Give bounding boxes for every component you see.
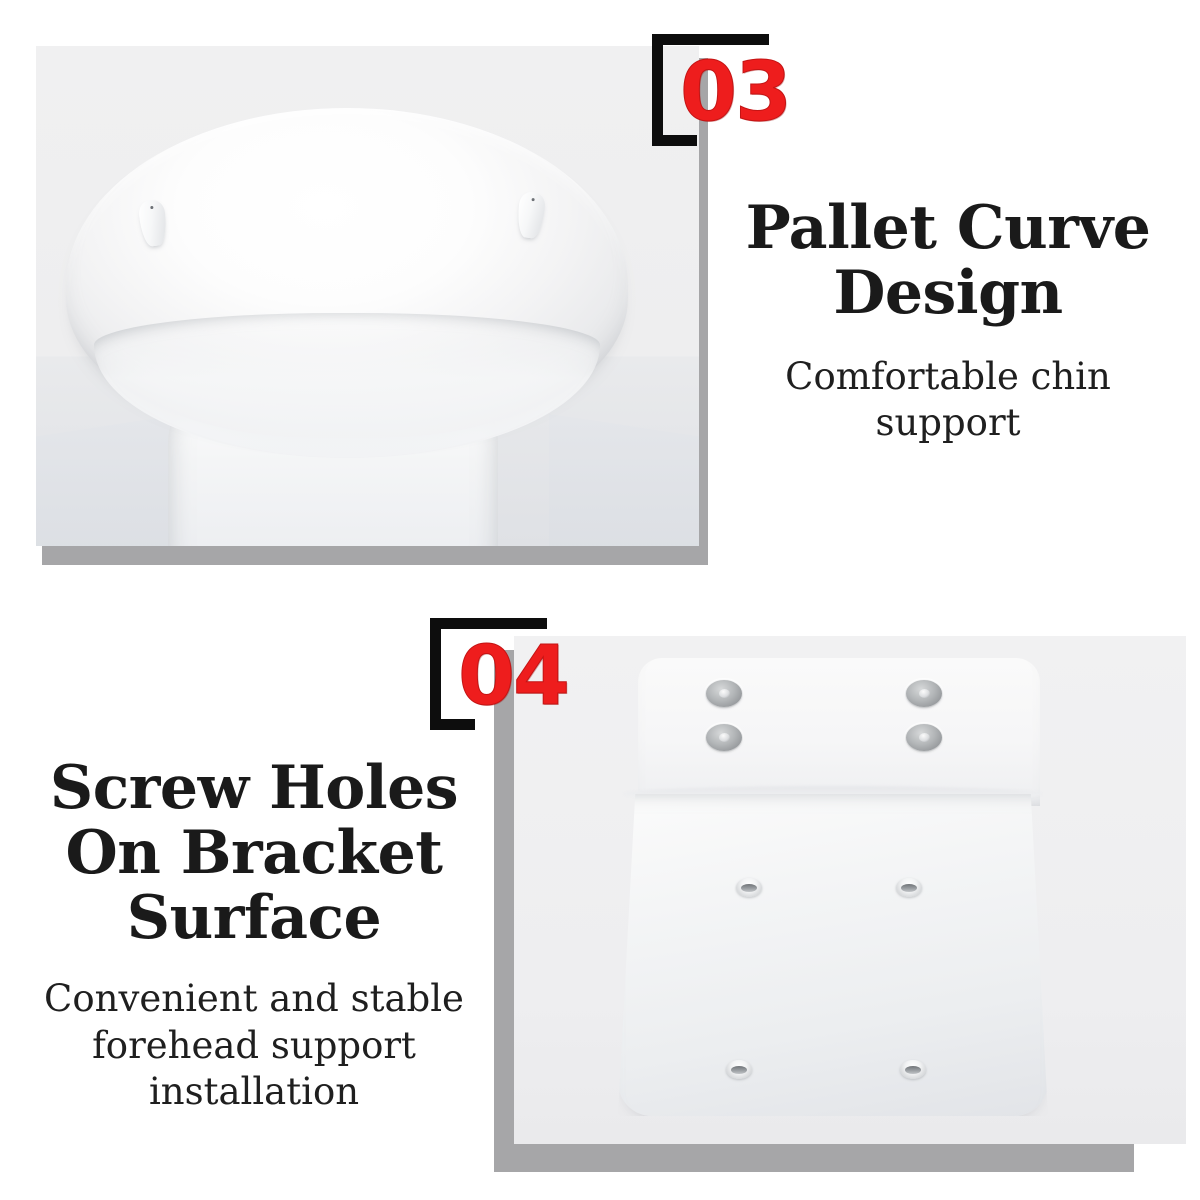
screw-hole-icon [900,1060,926,1079]
step-number: 03 [680,52,790,134]
feature-title-line-3: Surface [127,883,381,953]
bracket-seat-surface [618,794,1048,1116]
feature-title-line-1: Pallet Curve [746,193,1151,263]
bracket-back-plate [638,658,1040,806]
screw-hole-icon [726,1060,752,1079]
screw-icon [706,724,742,751]
feature-subtitle-line-2: forehead support [92,1024,416,1067]
pallet-base-wing-right [549,414,699,546]
screw-icon [906,724,942,751]
pallet-curved-shell [66,108,628,438]
screw-holes-bracket-photo [494,636,1194,1176]
pallet-curve-photo [18,40,708,565]
feature-title-line-2: Design [833,258,1062,328]
feature-subtitle: Comfortable chin support [700,354,1196,447]
feature-subtitle-line-3: installation [149,1070,359,1113]
feature-title-line-2: On Bracket [66,818,443,888]
feature-subtitle-line-2: support [875,401,1020,444]
product-feature-infographic: 03 Pallet Curve Design Comfortable chin … [0,0,1200,1200]
pallet-knob-right [516,191,547,239]
screw-icon [906,680,942,707]
feature-title-line-1: Screw Holes [50,753,458,823]
feature-subtitle-line-1: Comfortable chin [785,355,1111,398]
step-number: 04 [458,636,568,718]
photo-plate [514,636,1186,1144]
feature-title: Screw Holes On Bracket Surface [6,756,502,950]
screw-hole-icon [896,878,922,897]
feature-subtitle-line-1: Convenient and stable [44,977,464,1020]
pallet-knob-left [138,199,169,247]
pallet-curve-text-block: Pallet Curve Design Comfortable chin sup… [700,196,1196,446]
screw-hole-icon [736,878,762,897]
screw-holes-text-block: Screw Holes On Bracket Surface Convenien… [6,756,502,1115]
pallet-base-wing-left [36,414,186,546]
feature-subtitle: Convenient and stable forehead support i… [6,976,502,1115]
screw-icon [706,680,742,707]
feature-title: Pallet Curve Design [700,196,1196,326]
photo-plate [36,46,699,546]
